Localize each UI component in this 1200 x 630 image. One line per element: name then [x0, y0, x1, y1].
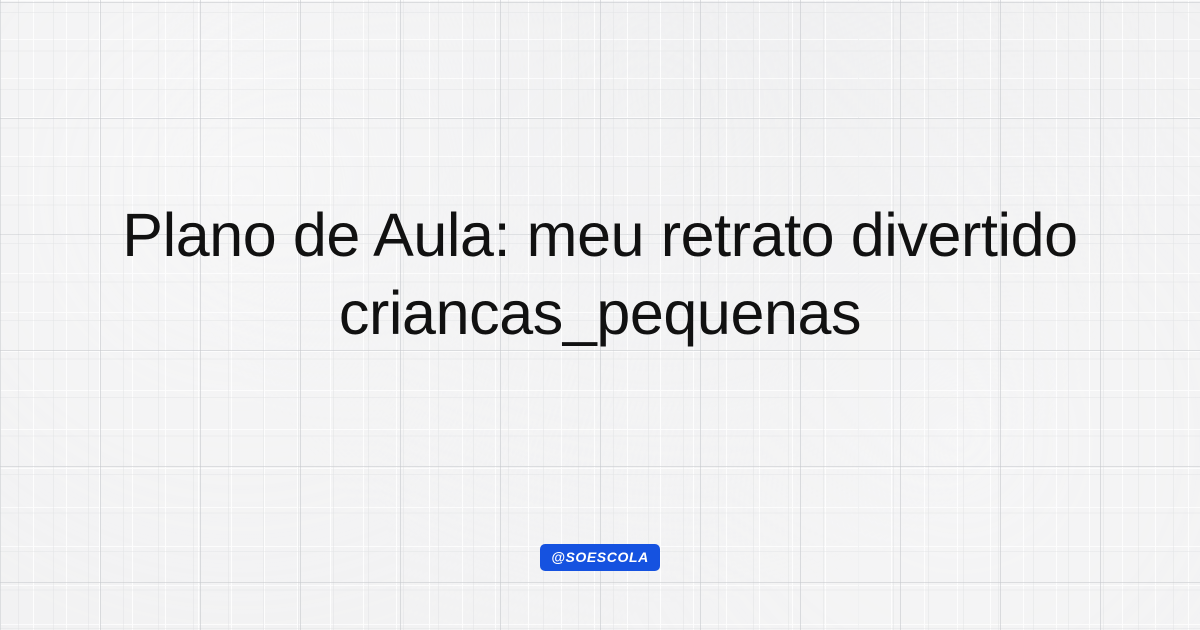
brand-badge-row: @SOESCOLA	[0, 544, 1200, 571]
page-title: Plano de Aula: meu retrato divertido cri…	[0, 196, 1200, 352]
brand-badge: @SOESCOLA	[540, 544, 660, 571]
share-card: Plano de Aula: meu retrato divertido cri…	[0, 0, 1200, 630]
card-content: Plano de Aula: meu retrato divertido cri…	[0, 0, 1200, 630]
